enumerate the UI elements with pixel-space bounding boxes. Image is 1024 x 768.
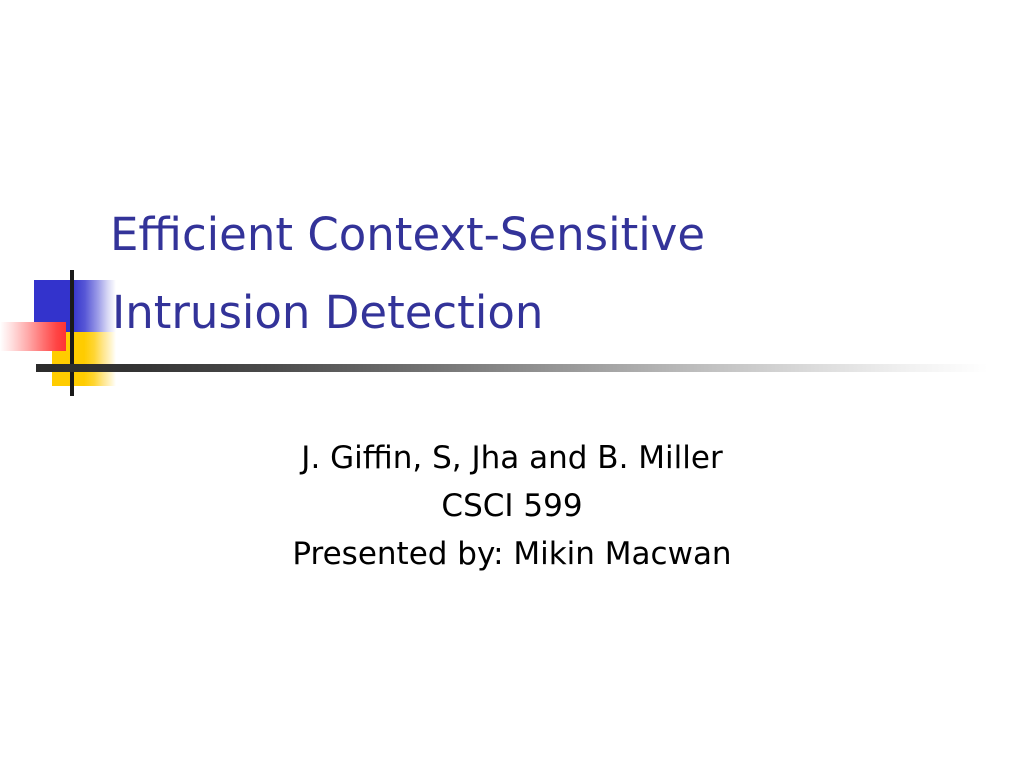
title-line-2: Intrusion Detection <box>112 274 940 352</box>
slide-subtitle: J. Giffin, S, Jha and B. Miller CSCI 599… <box>0 434 1024 578</box>
subtitle-course: CSCI 599 <box>0 482 1024 530</box>
vertical-rule-line <box>70 270 74 396</box>
slide-title: Efficient Context-Sensitive Intrusion De… <box>110 196 940 352</box>
horizontal-rule-line <box>36 364 988 372</box>
title-slide: Efficient Context-Sensitive Intrusion De… <box>0 0 1024 768</box>
yellow-square-shape <box>52 332 116 386</box>
subtitle-presenter: Presented by: Mikin Macwan <box>0 530 1024 578</box>
red-gradient-bar-shape <box>0 322 66 351</box>
blue-square-shape <box>34 280 116 333</box>
decorative-motif <box>0 0 1024 768</box>
subtitle-authors: J. Giffin, S, Jha and B. Miller <box>0 434 1024 482</box>
title-line-1: Efficient Context-Sensitive <box>110 196 940 274</box>
